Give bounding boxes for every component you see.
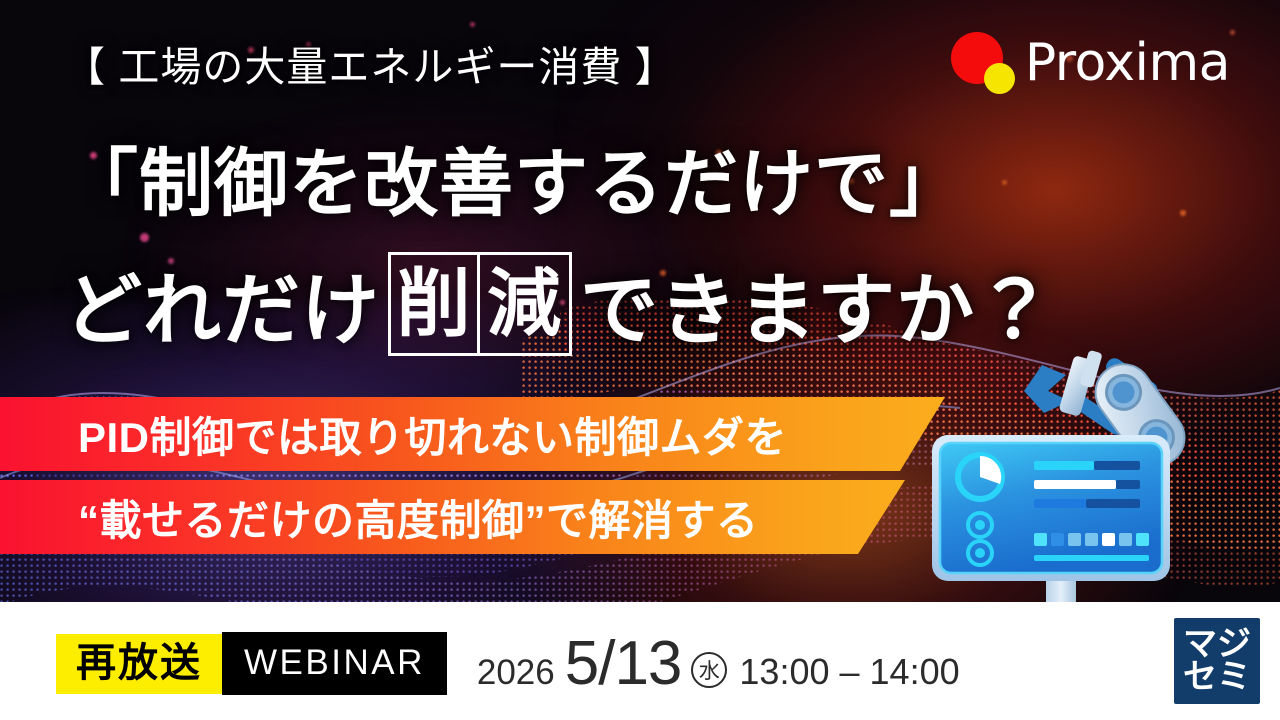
spark-particle (1180, 210, 1186, 216)
footer-bar: 再放送 WEBINAR 2026 5/13 水 13:00 – 14:00 マジ… (0, 602, 1280, 720)
headline-line-2: 「制御を改善するだけで」 (64, 124, 964, 231)
yellow-circle-icon (984, 63, 1015, 94)
event-time: 13:00 – 14:00 (739, 651, 959, 693)
footer-content: 再放送 WEBINAR 2026 5/13 水 13:00 – 14:00 (56, 628, 960, 699)
subtitle-bar-2: “載せるだけの高度制御”で解消する (0, 480, 905, 554)
majisemi-logo-text: マジセミ (1183, 628, 1251, 693)
boxed-char-2: 減 (480, 252, 572, 356)
headline-line-3-prefix: どれだけ (64, 248, 380, 360)
spark-particle (1002, 180, 1007, 185)
spark-particle (470, 22, 475, 27)
eyebrow-text: 【 工場の大量エネルギー消費 】 (64, 33, 677, 93)
boxed-keyword-group: 削 減 (388, 252, 572, 356)
event-date: 5/13 (565, 628, 682, 699)
spark-particle (140, 233, 149, 242)
boxed-char-1: 削 (388, 252, 480, 356)
subtitle-bar-1: PID制御では取り切れない制御ムダを (0, 397, 945, 471)
status-chip-row (1034, 533, 1149, 546)
proxima-logo-text: Proxima (1025, 37, 1230, 89)
webinar-banner: 【 工場の大量エネルギー消費 】 Proxima 「制御を改善するだけで」 どれ… (0, 0, 1280, 720)
majisemi-line-2: セミ (1183, 658, 1251, 696)
proxima-logo: Proxima (951, 30, 1230, 96)
majisemi-logo: マジセミ (1174, 618, 1260, 704)
event-datetime: 2026 5/13 水 13:00 – 14:00 (477, 628, 960, 699)
spark-particle (1230, 30, 1235, 35)
proxima-logo-mark (951, 30, 1017, 96)
dashboard-monitor-illustration (920, 335, 1220, 635)
rebroadcast-badge: 再放送 (56, 634, 222, 694)
headline-line-3: どれだけ 削 減 できますか？ (64, 248, 1054, 360)
event-day-of-week: 水 (691, 652, 727, 688)
event-year: 2026 (477, 653, 555, 693)
progress-bar-rows (1034, 461, 1140, 508)
screen-underline (1034, 555, 1149, 561)
webinar-badge: WEBINAR (222, 632, 447, 696)
